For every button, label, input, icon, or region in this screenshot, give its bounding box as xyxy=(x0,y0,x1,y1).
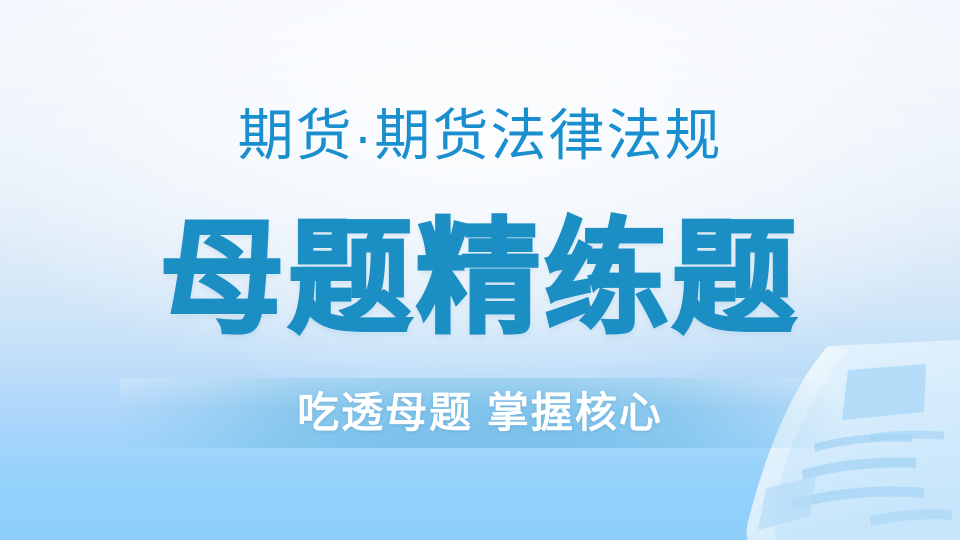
poster-canvas: 期货·期货法律法规 母题精练题 吃透母题 掌握核心 xyxy=(0,0,960,540)
page-title: 母题精练题 xyxy=(0,214,960,344)
course-title: 期货·期货法律法规 xyxy=(0,104,960,168)
subtitle-text: 吃透母题 掌握核心 xyxy=(0,387,960,439)
